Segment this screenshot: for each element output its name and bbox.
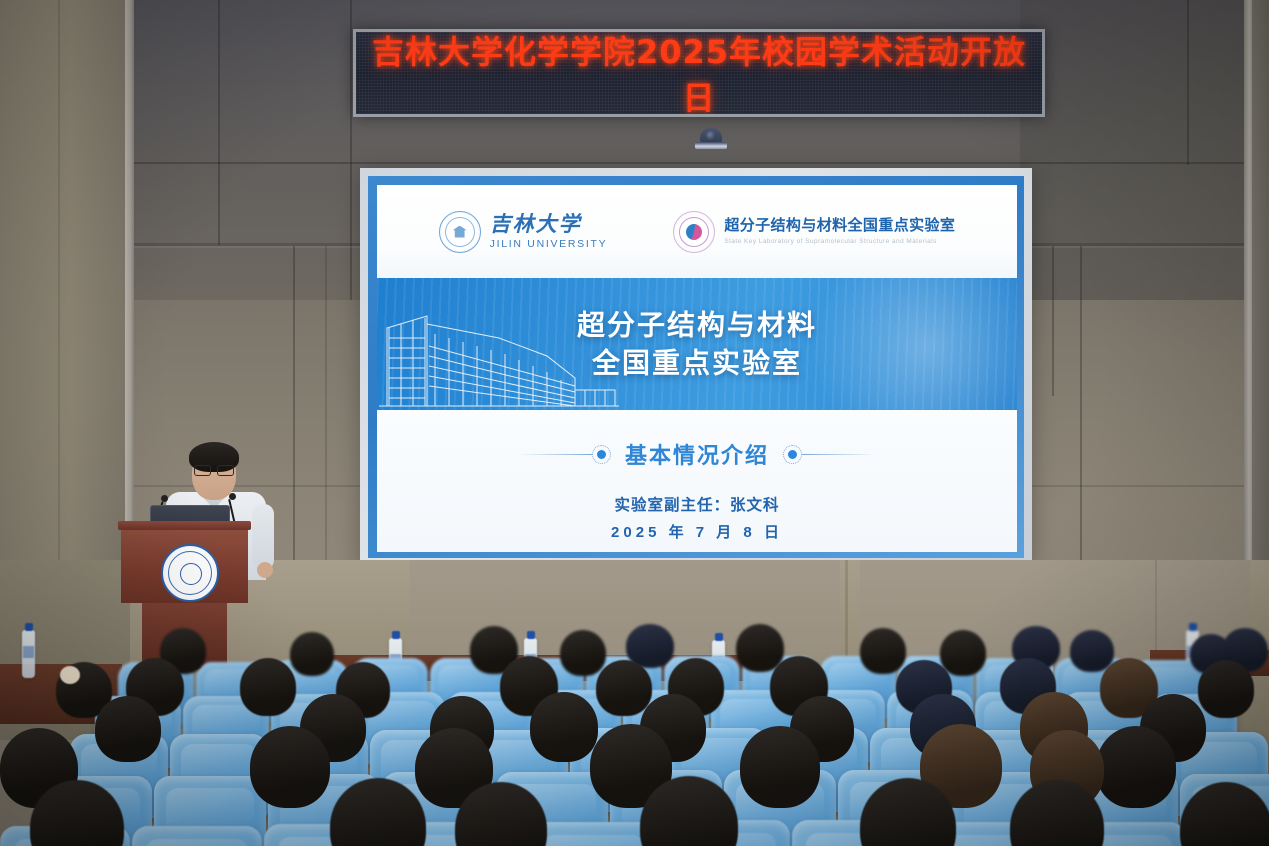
university-name-en: JILIN UNIVERSITY <box>490 238 608 250</box>
audience-head <box>560 630 606 676</box>
led-banner-text: 吉林大学化学学院2025年校园学术活动开放日 <box>356 29 1042 117</box>
wall-seam <box>1187 0 1189 165</box>
microphone-head-icon <box>229 493 236 500</box>
slide-main-title: 超分子结构与材料 全国重点实验室 <box>377 306 1017 381</box>
wall-seam <box>134 162 1244 164</box>
glasses-icon <box>194 465 234 474</box>
jilin-university-logo: 吉林大学 JILIN UNIVERSITY <box>439 211 608 253</box>
lecture-hall-photo: 吉林大学化学学院2025年校园学术活动开放日 吉林大学 JILIN UNIVER… <box>0 0 1269 846</box>
wall-seam <box>350 0 352 300</box>
audience-head <box>95 696 161 762</box>
wall-seam <box>1080 246 1082 576</box>
slide-subtitle-row: 基本情况介绍 <box>377 438 1017 470</box>
seat <box>528 822 658 846</box>
dot-marker-icon <box>592 445 611 464</box>
slide-title-band: 超分子结构与材料 全国重点实验室 <box>377 278 1017 410</box>
audience-head <box>1096 726 1176 808</box>
presentation-slide: 吉林大学 JILIN UNIVERSITY 超分子结构与材料全国重点实验室 St… <box>377 185 1017 552</box>
microphone-head-icon <box>161 495 168 502</box>
upper-wall-panel-right <box>1020 0 1269 300</box>
slide-subtitle: 基本情况介绍 <box>625 438 769 470</box>
wall-seam <box>293 246 295 576</box>
ptz-camera-icon <box>695 128 727 150</box>
audience-seating <box>0 600 1269 846</box>
state-key-lab-seal-icon <box>673 211 715 253</box>
slide-lower-section: 基本情况介绍 实验室副主任：张文科 2025 年 7 月 8 日 <box>377 410 1017 552</box>
audience-head <box>1198 660 1254 718</box>
university-name-cn: 吉林大学 <box>490 213 608 235</box>
wall-seam <box>325 246 327 576</box>
audience-head <box>860 628 906 674</box>
audience-head <box>240 658 296 716</box>
decoration-right <box>783 445 872 464</box>
university-emblem-icon <box>161 544 219 602</box>
hair-tie <box>60 666 80 684</box>
lab-name-en: State Key Laboratory of Supramolecular S… <box>724 238 955 245</box>
audience-head <box>530 692 598 762</box>
audience-head <box>940 630 986 676</box>
decoration-left <box>522 445 611 464</box>
lab-name-cn: 超分子结构与材料全国重点实验室 <box>724 218 955 235</box>
slide-date: 2025 年 7 月 8 日 <box>377 521 1017 542</box>
audience-head <box>290 632 334 676</box>
audience-head <box>250 726 330 808</box>
dot-marker-icon <box>783 445 802 464</box>
slide-title-line1: 超分子结构与材料 <box>377 306 1017 344</box>
led-banner: 吉林大学化学学院2025年校园学术活动开放日 <box>353 29 1045 117</box>
slide-header: 吉林大学 JILIN UNIVERSITY 超分子结构与材料全国重点实验室 St… <box>377 185 1017 278</box>
wall-seam <box>1052 246 1054 396</box>
jilin-university-seal-icon <box>439 211 481 253</box>
state-key-lab-logo: 超分子结构与材料全国重点实验室 State Key Laboratory of … <box>673 211 955 253</box>
audience-head <box>740 726 820 808</box>
audience-head <box>596 660 652 716</box>
slide-title-line2: 全国重点实验室 <box>377 344 1017 382</box>
slide-presenter: 实验室副主任：张文科 <box>377 493 1017 515</box>
seat <box>132 826 262 846</box>
wall-seam <box>218 0 220 245</box>
audience-head <box>1070 630 1114 672</box>
